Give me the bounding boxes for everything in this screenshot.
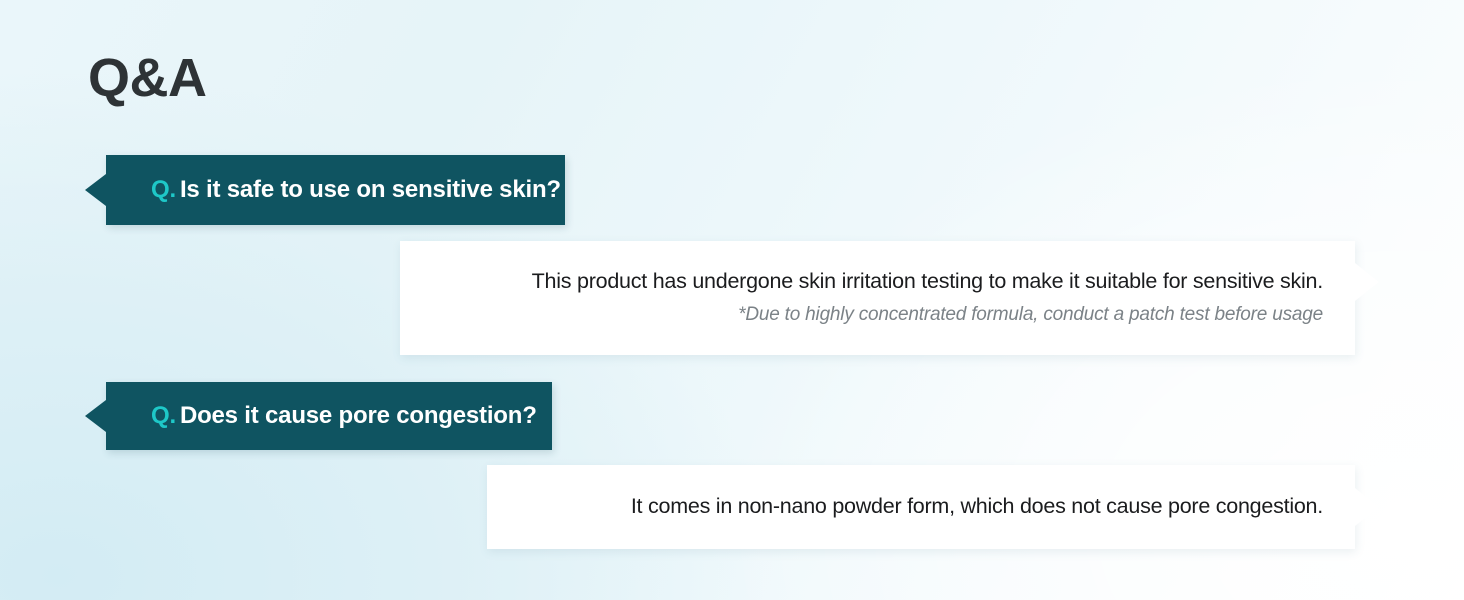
answer-bubble-2: It comes in non-nano powder form, which … xyxy=(487,465,1355,549)
question-marker-1: Q. xyxy=(151,176,176,203)
answer-text-1: This product has undergone skin irritati… xyxy=(532,268,1323,296)
question-bubble-2: Q.Does it cause pore congestion? xyxy=(106,382,552,450)
answer-text-2: It comes in non-nano powder form, which … xyxy=(631,493,1323,521)
question-bubble-tail-icon xyxy=(85,174,106,206)
answer-bubble-1: This product has undergone skin irritati… xyxy=(400,241,1355,355)
question-label-2: Does it cause pore congestion? xyxy=(180,402,537,429)
question-text-2: Q.Does it cause pore congestion? xyxy=(106,402,565,430)
question-bubble-1: Q.Is it safe to use on sensitive skin? xyxy=(106,155,565,225)
qa-section: Q&A Q.Is it safe to use on sensitive ski… xyxy=(0,0,1464,600)
answer-content-1: This product has undergone skin irritati… xyxy=(400,241,1355,355)
question-label-1: Is it safe to use on sensitive skin? xyxy=(180,176,561,203)
question-bubble-tail-icon xyxy=(85,400,106,432)
question-marker-2: Q. xyxy=(151,402,176,429)
answer-bubble-tail-icon xyxy=(1355,488,1379,526)
answer-bubble-tail-icon xyxy=(1355,263,1379,301)
answer-note-1: *Due to highly concentrated formula, con… xyxy=(738,303,1323,328)
answer-content-2: It comes in non-nano powder form, which … xyxy=(487,465,1355,549)
question-text-1: Q.Is it safe to use on sensitive skin? xyxy=(106,176,589,204)
page-title: Q&A xyxy=(88,51,207,105)
